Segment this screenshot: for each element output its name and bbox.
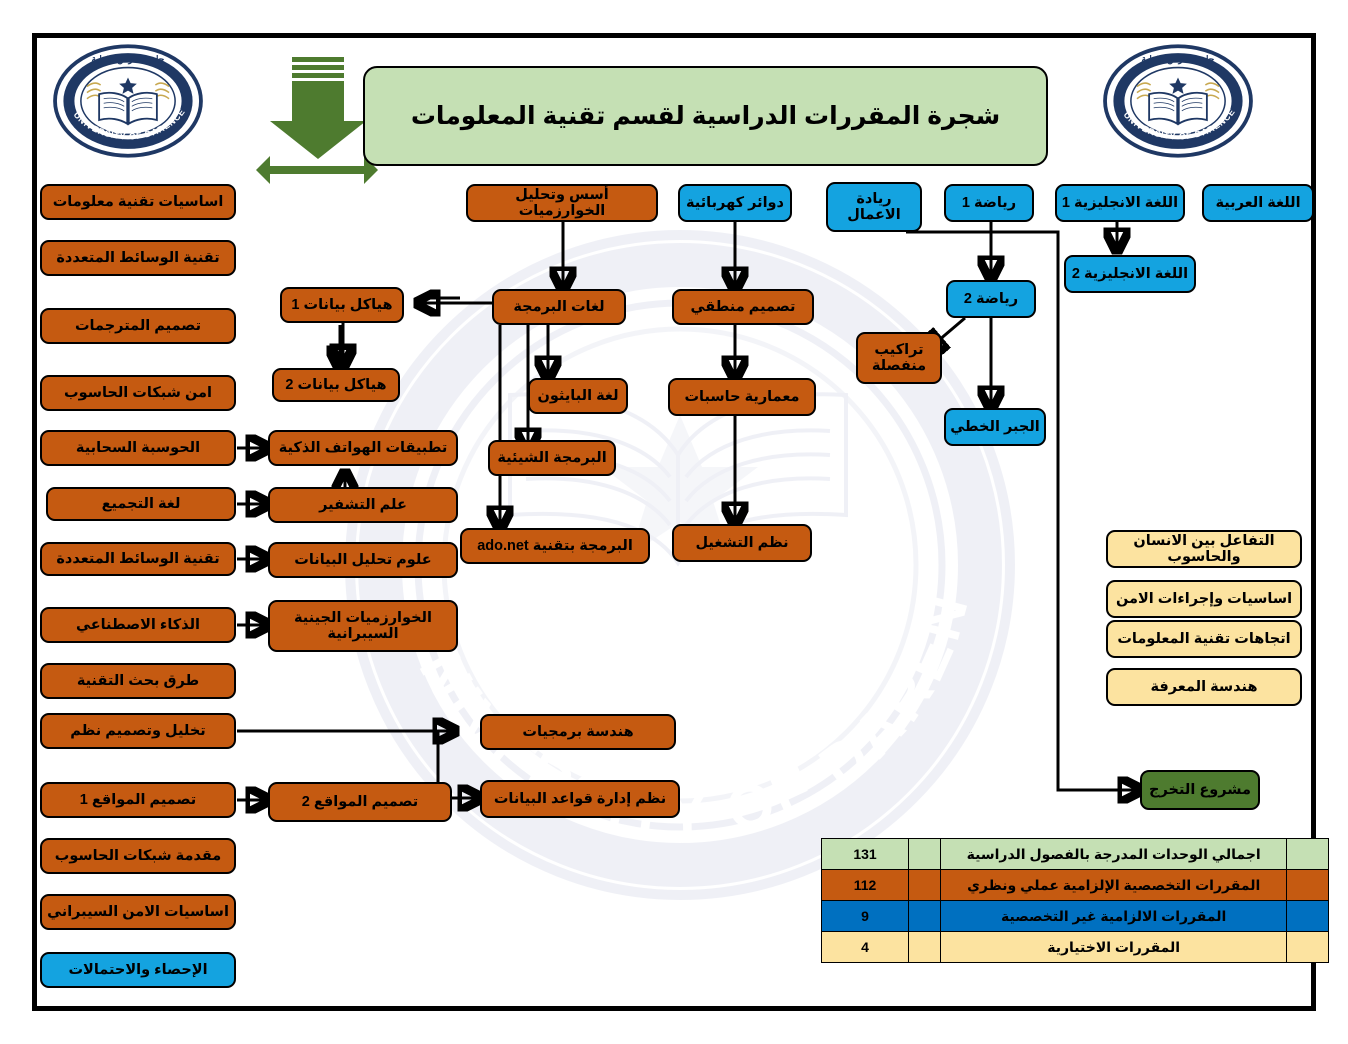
course-box[interactable]: نظم التشغيل (672, 524, 812, 562)
table-cell-end (1287, 870, 1329, 901)
course-box[interactable]: البرمجة بتقنية ado.net (460, 528, 650, 564)
table-row[interactable]: 112 المقررات التخصصية الإلزامية عملي ونظ… (822, 870, 1329, 901)
table-cell-label: المقررات الالزامية غير التخصصية (941, 901, 1287, 932)
page-title: شجرة المقررات الدراسية لقسم تقنية المعلو… (363, 66, 1048, 166)
table-cell-end (1287, 932, 1329, 963)
table-cell-value: 9 (822, 901, 909, 932)
course-box[interactable]: تقنية الوسائط المتعددة (40, 240, 236, 276)
course-box[interactable]: اللغة الانجليزية 2 (1064, 255, 1196, 293)
course-box[interactable]: اساسيات الامن السيبراني (40, 894, 236, 930)
course-box[interactable]: اساسيات تقنية معلومات (40, 184, 236, 220)
summary-table: 131 اجمالي الوحدات المدرجة بالفصول الدرا… (821, 838, 1329, 963)
course-box[interactable]: هندسة المعرفة (1106, 668, 1302, 706)
course-box[interactable]: معمارية حاسبات (668, 378, 816, 416)
course-box[interactable]: اللغة العربية (1202, 184, 1314, 222)
table-cell-label: المقررات الاختيارية (941, 932, 1287, 963)
course-box[interactable]: نظم إدارة قواعد البيانات (480, 780, 680, 818)
course-box[interactable]: طرق بحث التقنية (40, 663, 236, 699)
page-title-text: شجرة المقررات الدراسية لقسم تقنية المعلو… (411, 101, 1000, 131)
course-box[interactable]: تصميم المترجمات (40, 308, 236, 344)
course-box[interactable]: لغة التجميع (46, 487, 236, 521)
table-cell-spacer (909, 932, 941, 963)
table-row[interactable]: 131 اجمالي الوحدات المدرجة بالفصول الدرا… (822, 839, 1329, 870)
course-box[interactable]: هياكل بيانات 2 (272, 368, 400, 402)
course-box[interactable]: تخليل وتصميم نظم (40, 713, 236, 749)
university-logo-right: جامعة دارس الاهلية UNIVERSITY OF DARENCE… (1102, 42, 1254, 160)
course-box[interactable]: تصميم المواقع 1 (40, 782, 236, 818)
course-box[interactable]: دوائر كهربائية (678, 184, 792, 222)
course-box[interactable]: تراكيب منفصلة (856, 332, 942, 384)
course-box[interactable]: الخوارزميات الجينية السيبرانية (268, 600, 458, 652)
course-box[interactable]: لغات البرمجة (492, 289, 626, 325)
course-box[interactable]: أسس وتحليل الخوارزميات (466, 184, 658, 222)
course-box[interactable]: الحوسبة السحابية (40, 430, 236, 466)
graduation-project-box[interactable]: مشروع التخرج (1140, 770, 1260, 810)
table-row[interactable]: 9 المقررات الالزامية غير التخصصية (822, 901, 1329, 932)
course-box[interactable]: علوم تحليل البيانات (268, 542, 458, 578)
logo-arabic-text: جامعة دارس الاهلية (92, 54, 165, 65)
table-cell-value: 131 (822, 839, 909, 870)
table-cell-end (1287, 901, 1329, 932)
table-cell-value: 4 (822, 932, 909, 963)
university-logo-left: جامعة دارس الاهلية UNIVERSITY OF DARENCE… (52, 42, 204, 160)
green-down-arrow-icon (256, 57, 378, 192)
course-box[interactable]: الإحصاء والاحتمالات (40, 952, 236, 988)
table-cell-label: المقررات التخصصية الإلزامية عملي ونظري (941, 870, 1287, 901)
course-box[interactable]: اساسيات وإجراءات الامن (1106, 580, 1302, 618)
course-box[interactable]: تصميم منطقي (672, 289, 814, 325)
table-row[interactable]: 4 المقررات الاختيارية (822, 932, 1329, 963)
course-box[interactable]: تقنية الوسائط المتعددة (40, 542, 236, 576)
table-cell-spacer (909, 839, 941, 870)
table-cell-label: اجمالي الوحدات المدرجة بالفصول الدراسية (941, 839, 1287, 870)
table-cell-spacer (909, 870, 941, 901)
course-box[interactable]: رياضة 1 (944, 184, 1034, 222)
course-box[interactable]: امن شبكات الحاسوب (40, 375, 236, 411)
course-box[interactable]: هندسة برمجيات (480, 714, 676, 750)
svg-text:جامعة دارس الاهلية: جامعة دارس الاهلية (1142, 54, 1215, 65)
course-box[interactable]: مقدمة شبكات الحاسوب (40, 838, 236, 874)
course-box[interactable]: ريادة الاعمال (826, 182, 922, 232)
course-tree-diagram: UNIVERSITY OF DARENCE ALAHLIA (0, 0, 1348, 1044)
course-box[interactable]: التفاعل بين الانسان والحاسوب (1106, 530, 1302, 568)
course-box[interactable]: رياضة 2 (946, 280, 1036, 318)
table-cell-spacer (909, 901, 941, 932)
table-cell-end (1287, 839, 1329, 870)
course-box[interactable]: تطبيقات الهواتف الذكية (268, 430, 458, 466)
course-box[interactable]: الذكاء الاصطناعي (40, 607, 236, 643)
table-cell-value: 112 (822, 870, 909, 901)
course-box[interactable]: اللغة الانجليزية 1 (1055, 184, 1185, 222)
course-box[interactable]: البرمجة الشيئية (488, 440, 616, 476)
course-box[interactable]: اتجاهات تقنية المعلومات (1106, 620, 1302, 658)
course-box[interactable]: تصميم المواقع 2 (268, 782, 452, 822)
course-box[interactable]: الجبر الخطي (944, 408, 1046, 446)
course-box[interactable]: لغة البايثون (528, 378, 628, 414)
course-box[interactable]: هياكل بيانات 1 (280, 287, 404, 323)
course-box[interactable]: علم التشفير (268, 487, 458, 523)
